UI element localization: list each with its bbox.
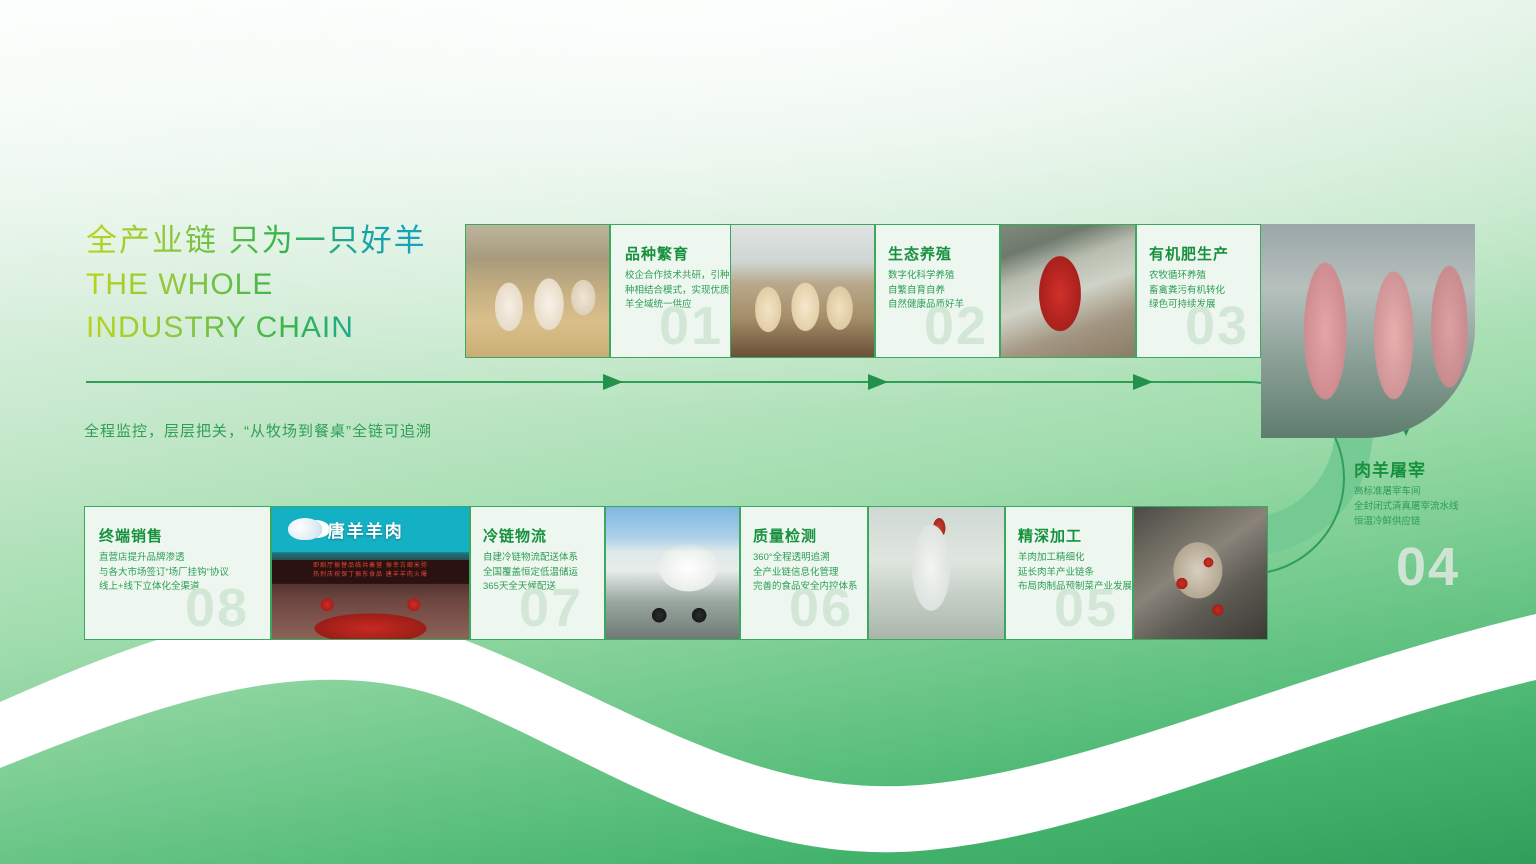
fertilizer-machine-photo <box>1001 225 1135 357</box>
title-english-line1: THE WHOLE <box>86 265 486 304</box>
step-photo-05 <box>1133 506 1268 640</box>
step-card-02[interactable]: 生态养殖 数字化科学养殖 自繁自育自养 自然健康品质好羊 02 <box>875 224 1000 358</box>
step-card-06[interactable]: 质量检测 360°全程透明追溯 全产业链信息化管理 完善的食品安全内控体系 06 <box>740 506 868 640</box>
step-card-07[interactable]: 冷链物流 自建冷链物流配送体系 全国覆盖恒定低温储运 365天全天候配送 07 <box>470 506 605 640</box>
step-photo-07 <box>605 506 740 640</box>
infographic-canvas: 全产业链 只为一只好羊 THE WHOLE INDUSTRY CHAIN 全程监… <box>0 0 1536 864</box>
step-photo-02 <box>730 224 875 358</box>
step-card-03[interactable]: 有机肥生产 农牧循环养殖 畜禽粪污有机转化 绿色可持续发展 03 <box>1136 224 1261 358</box>
refrigerated-truck-photo <box>606 507 739 639</box>
step-photo-08: 唐羊羊肉 即剧厅振替品临共秦营 振幸古卿米弥 热烈庆祝保丁振东食品 唐羊羊肉火爆 <box>271 506 470 640</box>
step-card-08[interactable]: 终端销售 直营店提升品牌渗透 与各大市场签订“场厂挂钩”协议 线上+线下立体化全… <box>84 506 271 640</box>
slaughter-line-photo <box>1261 224 1475 438</box>
storefront-brand-name: 唐羊羊肉 <box>328 517 404 542</box>
step-desc-04: 高标准屠宰车间 全封闭式清真屠宰流水线 恒温冷鲜供应链 <box>1354 484 1459 530</box>
step-title-05: 精深加工 <box>1018 525 1082 546</box>
step-number-07: 07 <box>519 581 583 635</box>
processed-meat-photo <box>1134 507 1267 639</box>
step-number-06: 06 <box>789 581 853 635</box>
step-title-07: 冷链物流 <box>483 525 547 546</box>
retail-storefront-photo: 唐羊羊肉 即剧厅振替品临共秦营 振幸古卿米弥 热烈庆祝保丁振东食品 唐羊羊肉火爆 <box>272 507 469 639</box>
step-photo-06 <box>868 506 1005 640</box>
step-photo-04 <box>1261 224 1475 438</box>
title-english-line2: INDUSTRY CHAIN <box>86 308 486 347</box>
step-photo-01 <box>465 224 610 358</box>
step-card-05[interactable]: 精深加工 羊肉加工精细化 延长肉羊产业链条 布局肉制品预制菜产业发展 05 <box>1005 506 1133 640</box>
banner-line-2: 热烈庆祝保丁振东食品 唐羊羊肉火爆 <box>272 571 469 580</box>
lab-inspection-photo <box>869 507 1004 639</box>
storefront-banner: 即剧厅振替品临共秦营 振幸古卿米弥 热烈庆祝保丁振东食品 唐羊羊肉火爆 <box>272 560 469 582</box>
step-number-03: 03 <box>1185 299 1249 353</box>
title-chinese: 全产业链 只为一只好羊 <box>86 222 486 261</box>
step-title-04: 肉羊屠宰 <box>1354 456 1426 481</box>
step-title-02: 生态养殖 <box>888 243 952 264</box>
step-photo-03 <box>1000 224 1136 358</box>
step-card-04[interactable]: 肉羊屠宰 高标准屠宰车间 全封闭式清真屠宰流水线 恒温冷鲜供应链 04 <box>1336 440 1536 640</box>
sheep-mascot-icon <box>288 518 322 540</box>
sheep-barn-photo <box>731 225 874 357</box>
step-title-03: 有机肥生产 <box>1149 243 1229 264</box>
step-number-04: 04 <box>1396 536 1460 598</box>
step-number-02: 02 <box>924 299 988 353</box>
step-title-01: 品种繁育 <box>625 243 689 264</box>
step-number-01: 01 <box>659 299 723 353</box>
step-number-08: 08 <box>185 581 249 635</box>
step-title-08: 终端销售 <box>99 525 163 546</box>
step-title-06: 质量检测 <box>753 525 817 546</box>
page-title: 全产业链 只为一只好羊 THE WHOLE INDUSTRY CHAIN <box>86 222 486 347</box>
subtitle-text: 全程监控，层层把关，“从牧场到餐桌”全链可追溯 <box>84 420 432 441</box>
step-number-05: 05 <box>1054 581 1118 635</box>
banner-line-1: 即剧厅振替品临共秦营 振幸古卿米弥 <box>272 562 469 571</box>
storefront-sign: 唐羊羊肉 <box>288 512 453 546</box>
lambs-in-pen-photo <box>466 225 609 357</box>
